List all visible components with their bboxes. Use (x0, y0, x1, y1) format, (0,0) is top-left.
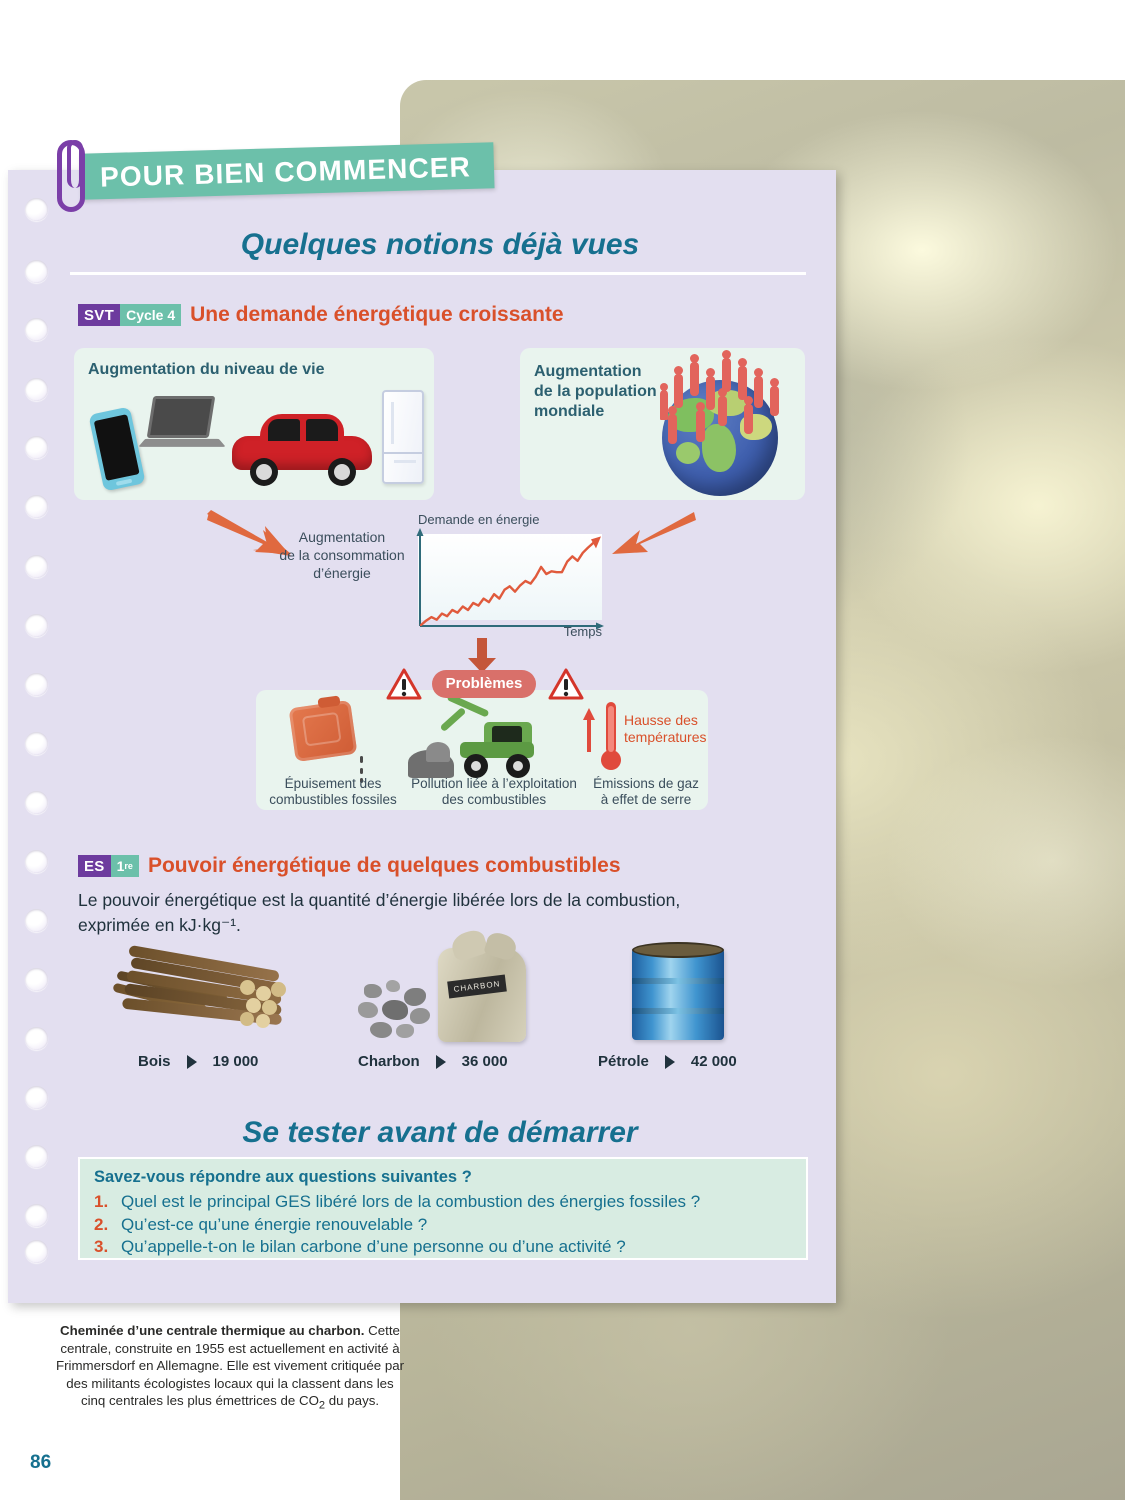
quiz-question-number: 3. (94, 1236, 113, 1259)
rubric-title: Une demande énergétique croissante (190, 303, 563, 327)
problem-caption-1: Épuisement des combustibles fossiles (258, 776, 408, 808)
laptop-icon (142, 396, 224, 456)
refrigerator-icon (382, 390, 424, 484)
rubric2-intro: Le pouvoir énergétique est la quantité d… (78, 888, 758, 938)
photo-caption: Cheminée d’une centrale thermique au cha… (55, 1322, 405, 1415)
quiz-question-text: Quel est le principal GES libéré lors de… (121, 1191, 700, 1214)
consumption-label: Augmentation de la consommation d’énergi… (272, 528, 412, 582)
consumption-line1: Augmentation (272, 528, 412, 546)
quiz-heading: Savez-vous répondre aux questions suivan… (94, 1168, 792, 1187)
arrow-up-icon (582, 708, 596, 752)
oil-barrel-icon (632, 938, 724, 1044)
binder-hole (25, 1086, 48, 1109)
problems-badge: Problèmes (432, 670, 536, 698)
quiz-question-text: Qu’appelle-t-on le bilan carbone d’une p… (121, 1236, 626, 1259)
page-number: 86 (30, 1452, 51, 1474)
smartphone-icon (88, 406, 145, 491)
triangle-right-icon (665, 1055, 675, 1069)
fuel-name: Bois (138, 1053, 171, 1070)
people-silhouettes-icon (656, 352, 788, 444)
problem-caption-3: Émissions de gaz à effet de serre (584, 776, 708, 808)
box-standard-of-living-title: Augmentation du niveau de vie (74, 348, 434, 380)
temperature-rise-label: Hausse des températures (624, 712, 716, 746)
sack-label-text: CHARBON (453, 979, 501, 994)
binder-hole (25, 673, 48, 696)
rubric2-intro-line1: Le pouvoir énergétique est la quantité d… (78, 888, 758, 913)
warning-triangle-icon (386, 668, 422, 700)
fuel-value: 19 000 (213, 1053, 259, 1070)
binder-hole (25, 495, 48, 518)
chart-y-label: Demande en énergie (418, 512, 539, 527)
consumption-line3: d’énergie (272, 564, 412, 582)
binder-hole (25, 791, 48, 814)
title-divider (70, 272, 806, 275)
drip-icon (360, 768, 363, 774)
binder-hole (25, 1145, 48, 1168)
problem-caption-2-line2: des combustibles (404, 792, 584, 808)
quiz-question: 1. Quel est le principal GES libéré lors… (94, 1191, 792, 1214)
badge-level-main: 1 (117, 858, 125, 874)
temperature-rise-line2: températures (624, 729, 716, 746)
badge-level: 1re (111, 855, 139, 877)
car-icon (232, 410, 372, 482)
photo-caption-line5b: du pays. (325, 1393, 379, 1408)
temperature-rise-line1: Hausse des (624, 712, 716, 729)
badge-svt-cycle4: SVT Cycle 4 (78, 304, 181, 326)
quiz-question-number: 1. (94, 1191, 113, 1214)
fuel-value: 42 000 (691, 1053, 737, 1070)
fuel-value: 36 000 (462, 1053, 508, 1070)
binder-hole (25, 1027, 48, 1050)
badge-subject: ES (78, 855, 111, 877)
thermometer-icon (600, 702, 622, 774)
binder-hole (25, 968, 48, 991)
quiz-question-number: 2. (94, 1214, 113, 1237)
rubric-es: ES 1re Pouvoir énergétique de quelques c… (78, 854, 621, 878)
drip-icon (360, 756, 363, 763)
coal-chunks-icon (356, 980, 436, 1042)
fuel-name: Charbon (358, 1053, 420, 1070)
binder-hole (25, 260, 48, 283)
arrow-down-left-icon (608, 508, 698, 558)
jerrycan-icon (289, 700, 358, 762)
box-world-population: Augmentation de la population mondiale (520, 348, 805, 500)
energy-demand-chart: Demande en énergie Temps (412, 512, 602, 642)
quiz-question: 2. Qu’est-ce qu’une énergie renouvelable… (94, 1214, 792, 1237)
binder-hole (25, 555, 48, 578)
badge-es-1re: ES 1re (78, 855, 139, 877)
binder-hole (25, 909, 48, 932)
chart-svg (412, 526, 608, 642)
fuel-name: Pétrole (598, 1053, 649, 1070)
quiz-section-title: Se tester avant de démarrer (70, 1116, 810, 1150)
triangle-right-icon (187, 1055, 197, 1069)
coal-sack-icon: CHARBON (434, 932, 530, 1044)
badge-level-sup: re (124, 861, 133, 871)
binder-hole (25, 732, 48, 755)
binder-hole (25, 318, 48, 341)
binder-hole (25, 436, 48, 459)
fuel-row-bois: Bois 19 000 (138, 1053, 258, 1070)
rubric2-intro-line2: exprimée en kJ·kg⁻¹. (78, 913, 758, 938)
problem-caption-1-line1: Épuisement des (258, 776, 408, 792)
arrow-down-icon (465, 638, 499, 674)
warning-triangle-icon (548, 668, 584, 700)
binder-hole (25, 198, 48, 221)
paperclip-icon (57, 140, 85, 212)
self-test-box: Savez-vous répondre aux questions suivan… (78, 1157, 808, 1260)
binder-hole (25, 378, 48, 401)
problem-caption-2: Pollution liée à l’exploitation des comb… (404, 776, 584, 808)
consumption-line2: de la consommation (272, 546, 412, 564)
fuel-row-petrole: Pétrole 42 000 (598, 1053, 737, 1070)
quiz-question: 3. Qu’appelle-t-on le bilan carbone d’un… (94, 1236, 792, 1259)
problem-caption-1-line2: combustibles fossiles (258, 792, 408, 808)
page-title: Quelques notions déjà vues (70, 228, 810, 262)
fuel-row-charbon: Charbon 36 000 (358, 1053, 508, 1070)
problem-caption-3-line1: Émissions de gaz (584, 776, 708, 792)
binder-hole (25, 850, 48, 873)
badge-subject: SVT (78, 304, 120, 326)
problem-caption-3-line2: à effet de serre (584, 792, 708, 808)
textbook-page: POUR BIEN COMMENCER Quelques notions déj… (0, 0, 1125, 1500)
binder-hole (25, 1204, 48, 1227)
excavator-icon (426, 698, 556, 786)
photo-caption-line5a: plus émettrices de CO (187, 1393, 319, 1408)
binder-hole (25, 1240, 48, 1263)
box-standard-of-living: Augmentation du niveau de vie (74, 348, 434, 500)
problem-caption-2-line1: Pollution liée à l’exploitation (404, 776, 584, 792)
binder-hole (25, 614, 48, 637)
photo-caption-bold: Cheminée d’une centrale thermique au cha… (60, 1323, 364, 1338)
box-problems: Hausse des températures Épuisement des c… (256, 690, 708, 810)
badge-level: Cycle 4 (120, 304, 181, 326)
rubric-title: Pouvoir énergétique de quelques combusti… (148, 854, 621, 878)
wood-logs-icon (112, 938, 302, 1042)
quiz-question-text: Qu’est-ce qu’une énergie renouvelable ? (121, 1214, 427, 1237)
rubric-svt: SVT Cycle 4 Une demande énergétique croi… (78, 303, 564, 327)
triangle-right-icon (436, 1055, 446, 1069)
